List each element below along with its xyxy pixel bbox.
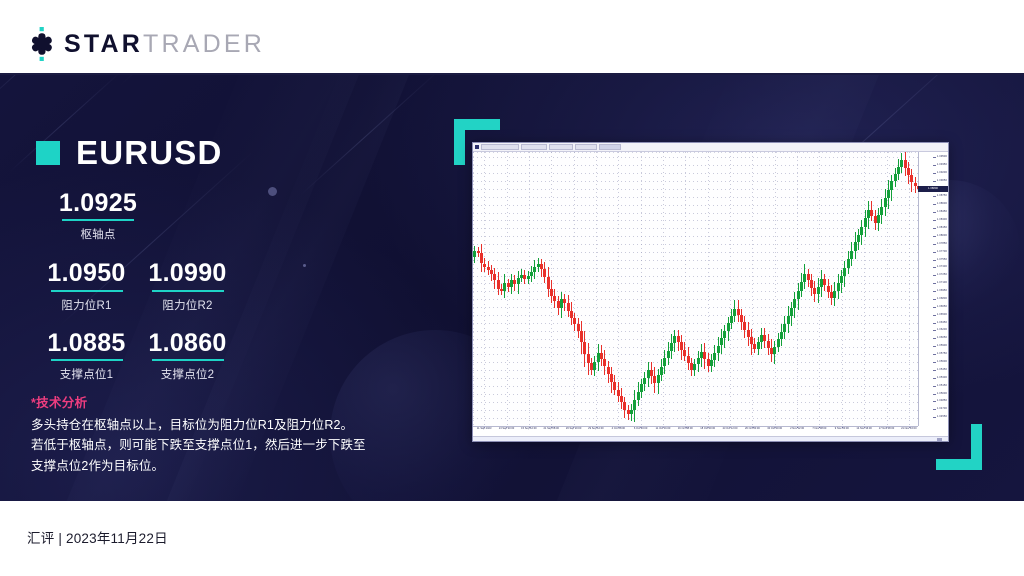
brand-logo: STARTRADER bbox=[26, 27, 265, 61]
price-axis-tick: 1.07850 bbox=[937, 243, 947, 246]
price-axis-tick: 1.06950 bbox=[937, 290, 947, 293]
price-axis-tick: 1.06500 bbox=[937, 314, 947, 317]
chart-toolbar[interactable] bbox=[473, 143, 948, 152]
level-s1: 1.0885 支撑点位1 bbox=[36, 330, 137, 382]
time-axis-tick: 14 Nov 16:00 bbox=[856, 428, 871, 431]
price-axis-tick: 1.07250 bbox=[937, 274, 947, 277]
price-axis-tick: 1.08000 bbox=[937, 235, 947, 238]
analysis-line-3: 支撑点位2作为目标位。 bbox=[31, 456, 403, 476]
level-s1-label: 支撑点位1 bbox=[36, 366, 137, 382]
price-axis-tick: 1.06650 bbox=[937, 306, 947, 309]
page-title: EURUSD bbox=[76, 136, 223, 169]
level-r2: 1.0990 阻力位R2 bbox=[137, 260, 238, 312]
price-axis-tick: 1.05600 bbox=[937, 361, 947, 364]
level-r2-label: 阻力位R2 bbox=[137, 297, 238, 313]
level-s2-value: 1.0860 bbox=[137, 330, 238, 356]
price-axis[interactable]: 1.095001.093501.092001.090501.087501.086… bbox=[918, 152, 948, 426]
background-dot bbox=[303, 264, 306, 267]
asterisk-star-icon bbox=[26, 27, 58, 61]
analysis-line-1: 多头持仓在枢轴点以上，目标位为阻力位R1及阻力位R2。 bbox=[31, 415, 403, 435]
time-axis-tick: 2 Nov 12:00 bbox=[790, 428, 804, 431]
support-row: 1.0885 支撑点位1 1.0860 支撑点位2 bbox=[36, 330, 286, 382]
price-axis-tick: 1.05900 bbox=[937, 345, 947, 348]
brand-name-light: TRADER bbox=[143, 32, 265, 57]
time-axis-tick: 9 Nov 00:00 bbox=[835, 428, 849, 431]
mt4-chart-window[interactable]: 1.095001.093501.092001.090501.087501.086… bbox=[472, 142, 949, 442]
chart-ohlc-low bbox=[575, 144, 597, 150]
time-axis-tick: 13 Sep 20:00 bbox=[499, 428, 514, 431]
level-underline bbox=[51, 290, 123, 292]
chart-symbol-label bbox=[481, 144, 519, 150]
time-axis-tick: 15 Sep 12:00 bbox=[521, 428, 536, 431]
footer-bar: 汇评 | 2023年11月22日 bbox=[0, 501, 1024, 576]
time-axis-tick: 16 Oct 08:00 bbox=[678, 428, 693, 431]
level-r1: 1.0950 阻力位R1 bbox=[36, 260, 137, 312]
level-s2-label: 支撑点位2 bbox=[137, 366, 238, 382]
time-axis-tick: 26 Oct 00:00 bbox=[745, 428, 760, 431]
brand-name-bold: STAR bbox=[64, 32, 143, 57]
level-s1-value: 1.0885 bbox=[36, 330, 137, 356]
chart-horizontal-scrollbar[interactable] bbox=[473, 436, 948, 441]
price-axis-tick: 1.09050 bbox=[937, 180, 947, 183]
price-axis-tick: 1.08150 bbox=[937, 227, 947, 230]
chart-ohlc-high bbox=[549, 144, 573, 150]
analysis-block: *技术分析 多头持仓在枢轴点以上，目标位为阻力位R1及阻力位R2。 若低于枢轴点… bbox=[31, 392, 403, 476]
price-axis-tick: 1.08450 bbox=[937, 211, 947, 214]
price-axis-tick: 1.09500 bbox=[937, 156, 947, 159]
price-axis-tick: 1.08300 bbox=[937, 219, 947, 222]
slide-root: STARTRADER EURUSD 1.0925 bbox=[0, 0, 1024, 576]
price-axis-tick: 1.05000 bbox=[937, 393, 947, 396]
time-axis-tick: 17 Nov 08:00 bbox=[879, 428, 894, 431]
candlestick-series bbox=[473, 152, 918, 426]
time-axis-tick: 26 Sep 20:00 bbox=[566, 428, 581, 431]
level-pivot-value: 1.0925 bbox=[36, 190, 160, 216]
level-pivot: 1.0925 枢轴点 bbox=[36, 190, 160, 242]
current-price-marker: 1.08890 bbox=[918, 186, 948, 192]
time-axis-tick: 7 Nov 08:00 bbox=[812, 428, 826, 431]
price-axis-tick: 1.07100 bbox=[937, 282, 947, 285]
price-axis-tick: 1.06050 bbox=[937, 337, 947, 340]
analysis-line-2: 若低于枢轴点，则可能下跌至支撑点位1，然后进一步下跌至 bbox=[31, 435, 403, 455]
footer-caption: 汇评 | 2023年11月22日 bbox=[27, 527, 168, 547]
pivot-row: 1.0925 枢轴点 bbox=[36, 190, 286, 242]
header-bar: STARTRADER bbox=[0, 0, 1024, 75]
price-axis-tick: 1.06350 bbox=[937, 322, 947, 325]
time-axis-tick: 21 Sep 08:00 bbox=[543, 428, 558, 431]
chart-plot-area[interactable] bbox=[473, 152, 918, 426]
time-axis-tick: 30 Oct 20:00 bbox=[767, 428, 782, 431]
price-axis-tick: 1.06200 bbox=[937, 329, 947, 332]
price-axis-tick: 1.07700 bbox=[937, 251, 947, 254]
price-axis-tick: 1.06800 bbox=[937, 298, 947, 301]
analysis-text: 多头持仓在枢轴点以上，目标位为阻力位R1及阻力位R2。 若低于枢轴点，则可能下跌… bbox=[31, 415, 403, 476]
level-r1-value: 1.0950 bbox=[36, 260, 137, 286]
analysis-title: *技术分析 bbox=[31, 392, 403, 411]
time-axis-tick: 29 Sep 12:00 bbox=[588, 428, 603, 431]
chart-ohlc-open bbox=[521, 144, 547, 150]
resistance-row: 1.0950 阻力位R1 1.0990 阻力位R2 bbox=[36, 260, 286, 312]
price-axis-tick: 1.09350 bbox=[937, 164, 947, 167]
chart-ohlc-close bbox=[599, 144, 621, 150]
time-axis-tick: 6 Oct 20:00 bbox=[634, 428, 647, 431]
brand-wordmark: STARTRADER bbox=[64, 32, 265, 57]
level-underline bbox=[152, 359, 224, 361]
price-axis-tick: 1.08600 bbox=[937, 203, 947, 206]
price-axis-tick: 1.09200 bbox=[937, 172, 947, 175]
chart-toolbar-icon bbox=[475, 145, 479, 149]
time-axis-tick: 23 Oct 12:00 bbox=[723, 428, 738, 431]
time-axis-tick: 11 Sep 2023 bbox=[477, 428, 492, 431]
level-underline bbox=[152, 290, 224, 292]
price-axis-tick: 1.05450 bbox=[937, 369, 947, 372]
price-axis-tick: 1.05150 bbox=[937, 385, 947, 388]
price-axis-tick: 1.04850 bbox=[937, 400, 947, 403]
level-underline bbox=[62, 219, 134, 221]
symbol-accent-chip bbox=[36, 141, 60, 165]
level-r1-label: 阻力位R1 bbox=[36, 297, 137, 313]
time-axis-tick: 11 Oct 16:00 bbox=[656, 428, 671, 431]
price-axis-tick: 1.07550 bbox=[937, 259, 947, 262]
price-axis-tick: 1.04550 bbox=[937, 416, 947, 419]
time-axis-tick: 18 Oct 20:00 bbox=[700, 428, 715, 431]
price-axis-tick: 1.04700 bbox=[937, 408, 947, 411]
pivot-levels-group: 1.0925 枢轴点 1.0950 阻力位R1 1.0990 阻力位R2 1.0… bbox=[36, 190, 286, 382]
price-axis-tick: 1.07400 bbox=[937, 266, 947, 269]
level-underline bbox=[51, 359, 123, 361]
level-r2-value: 1.0990 bbox=[137, 260, 238, 286]
time-axis-tick: 4 Oct 08:00 bbox=[612, 428, 625, 431]
price-axis-tick: 1.05750 bbox=[937, 353, 947, 356]
level-pivot-label: 枢轴点 bbox=[36, 226, 160, 242]
price-axis-tick: 1.08750 bbox=[937, 195, 947, 198]
time-axis-tick: 21 Nov 16:00 bbox=[901, 428, 916, 431]
price-axis-tick: 1.05300 bbox=[937, 377, 947, 380]
level-s2: 1.0860 支撑点位2 bbox=[137, 330, 238, 382]
symbol-heading: EURUSD bbox=[36, 136, 223, 169]
